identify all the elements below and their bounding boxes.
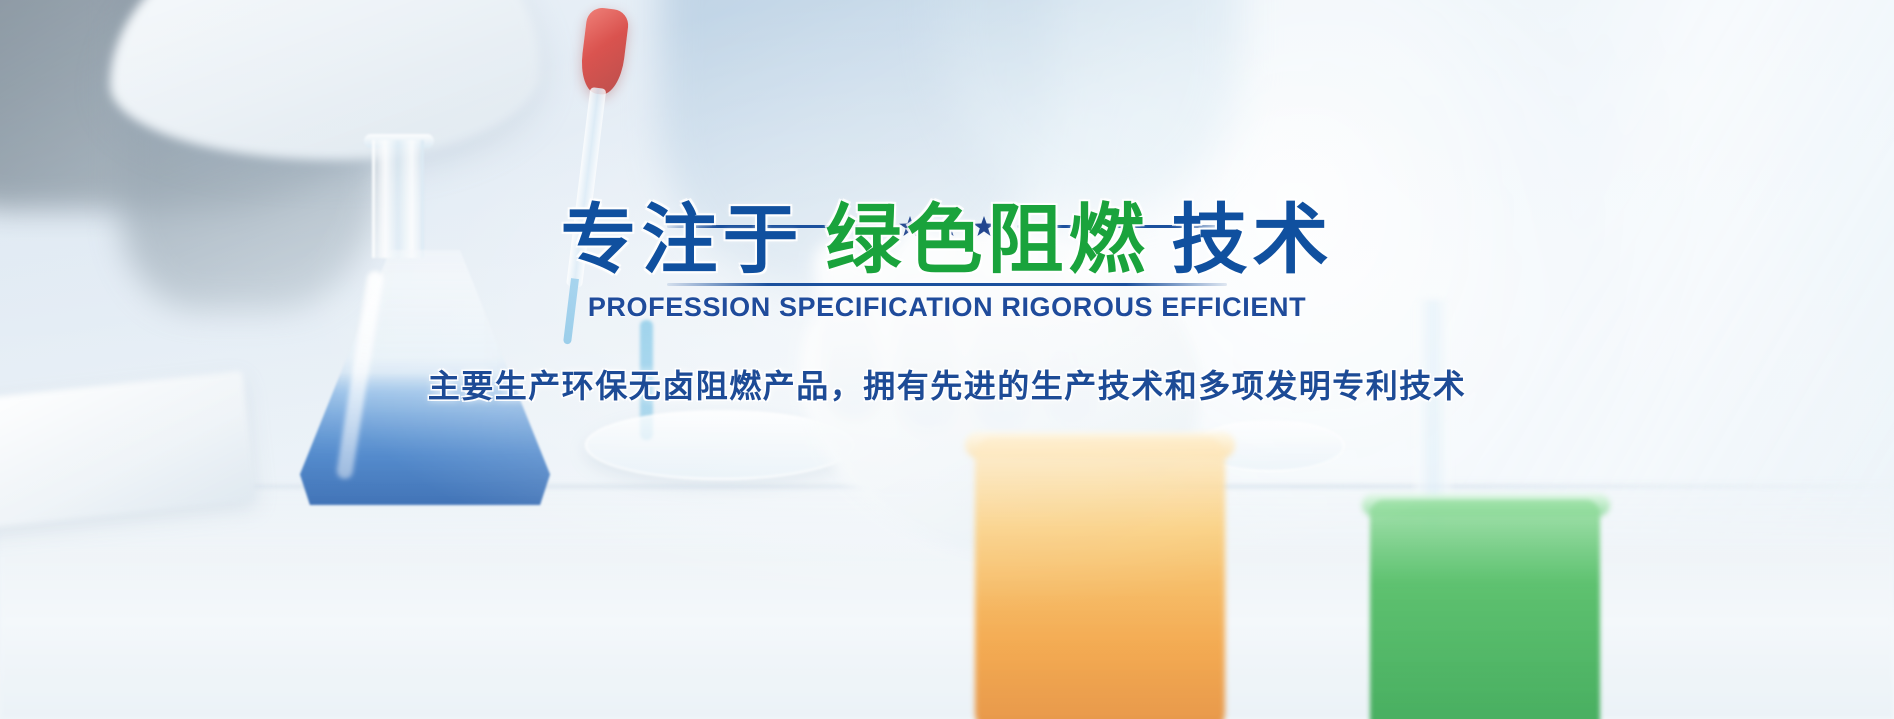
pipette-tip [563, 278, 579, 344]
orange-beaker [975, 438, 1225, 719]
hero-banner: 专注于绿色阻燃技术 PROFESSION SPECIFICATION RIGOR… [0, 0, 1894, 719]
finger-3 [971, 231, 1039, 432]
pipette-tube [566, 87, 606, 287]
finger-1 [811, 236, 884, 421]
pipette-red-bulb [578, 6, 630, 96]
finger-4 [1040, 245, 1118, 426]
erlenmeyer-flask [300, 140, 550, 510]
green-beaker [1370, 500, 1600, 719]
flask-neck [372, 140, 424, 258]
finger-2 [892, 225, 957, 432]
